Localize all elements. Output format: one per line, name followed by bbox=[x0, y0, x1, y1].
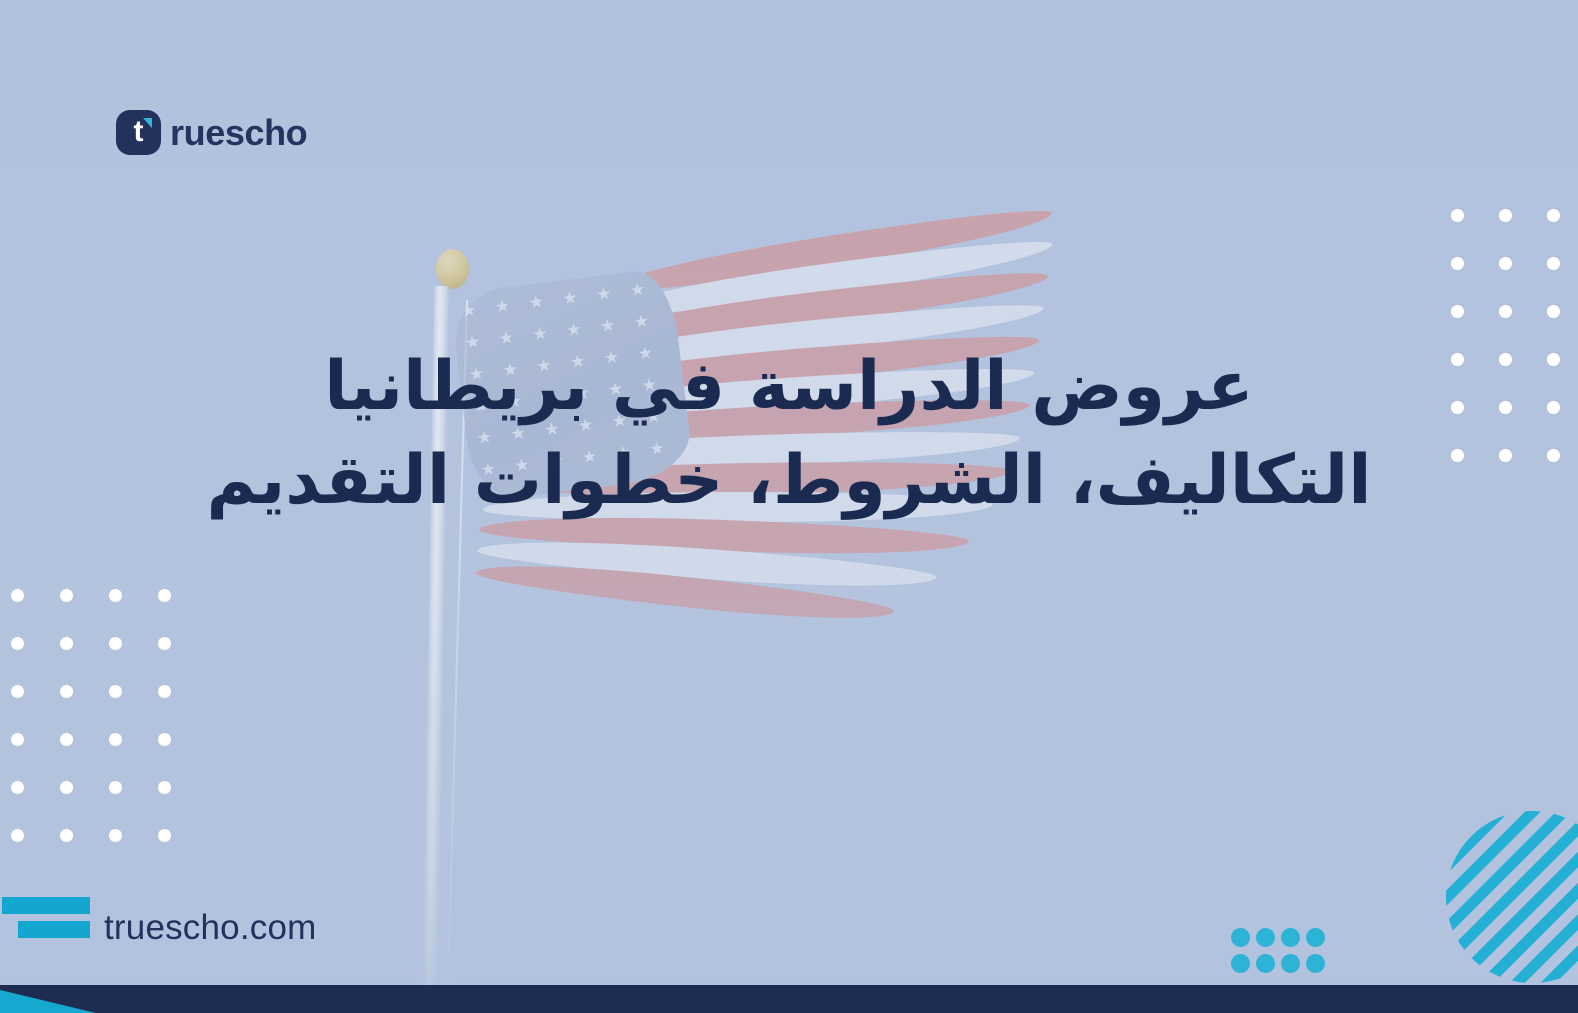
footer-bar-top bbox=[2, 897, 90, 914]
left-dot-grid-icon bbox=[11, 589, 207, 877]
grid-dot bbox=[158, 589, 171, 602]
grid-dot bbox=[1499, 305, 1512, 318]
grid-dot bbox=[60, 637, 73, 650]
headline-line-2: التكاليف، الشروط، خطوات التقديم bbox=[110, 434, 1468, 528]
cyan-dot-grid-icon bbox=[1231, 928, 1331, 980]
grid-dot bbox=[11, 829, 24, 842]
grid-dot bbox=[1451, 209, 1464, 222]
grid-dot bbox=[11, 781, 24, 794]
brand-logo[interactable]: t ruescho bbox=[116, 110, 307, 155]
headline-block: عروض الدراسة في بريطانيا التكاليف، الشرو… bbox=[0, 340, 1578, 528]
grid-dot bbox=[1547, 209, 1560, 222]
grid-dot bbox=[60, 781, 73, 794]
grid-dot bbox=[1306, 928, 1325, 947]
grid-dot bbox=[158, 829, 171, 842]
footer-bars-icon bbox=[0, 897, 90, 945]
logo-mark-letter: t bbox=[134, 117, 144, 147]
grid-dot bbox=[109, 637, 122, 650]
grid-dot bbox=[11, 589, 24, 602]
grid-dot bbox=[60, 733, 73, 746]
grid-dot bbox=[11, 733, 24, 746]
grid-dot bbox=[1451, 257, 1464, 270]
grid-dot bbox=[1231, 928, 1250, 947]
grid-dot bbox=[60, 685, 73, 698]
logo-accent-icon bbox=[143, 118, 152, 128]
grid-dot bbox=[158, 637, 171, 650]
grid-dot bbox=[1281, 928, 1300, 947]
grid-dot bbox=[109, 589, 122, 602]
grid-dot bbox=[60, 829, 73, 842]
grid-dot bbox=[1547, 305, 1560, 318]
grid-dot bbox=[1306, 954, 1325, 973]
bottom-navy-band bbox=[0, 985, 1578, 1013]
grid-dot bbox=[1256, 928, 1275, 947]
headline-line-1: عروض الدراسة في بريطانيا bbox=[110, 340, 1468, 434]
grid-dot bbox=[109, 685, 122, 698]
grid-dot bbox=[1281, 954, 1300, 973]
grid-dot bbox=[109, 733, 122, 746]
banner-canvas: ★★★★★★★★★★★★★★★★★★★★★★★★★★★★★★★★★★★★ t r… bbox=[0, 0, 1578, 1013]
logo-wordmark: ruescho bbox=[170, 115, 307, 151]
grid-dot bbox=[1499, 257, 1512, 270]
grid-dot bbox=[158, 733, 171, 746]
grid-dot bbox=[11, 637, 24, 650]
grid-dot bbox=[1547, 257, 1560, 270]
grid-dot bbox=[1231, 954, 1250, 973]
bottom-cyan-wedge-icon bbox=[0, 985, 96, 1013]
grid-dot bbox=[158, 685, 171, 698]
footer-website-url[interactable]: truescho.com bbox=[104, 910, 317, 945]
grid-dot bbox=[109, 829, 122, 842]
grid-dot bbox=[158, 781, 171, 794]
grid-dot bbox=[1451, 305, 1464, 318]
grid-dot bbox=[1256, 954, 1275, 973]
grid-dot bbox=[1499, 209, 1512, 222]
grid-dot bbox=[11, 685, 24, 698]
logo-mark-icon: t bbox=[116, 110, 161, 155]
footer-bar-bottom bbox=[18, 921, 90, 938]
grid-dot bbox=[60, 589, 73, 602]
grid-dot bbox=[109, 781, 122, 794]
